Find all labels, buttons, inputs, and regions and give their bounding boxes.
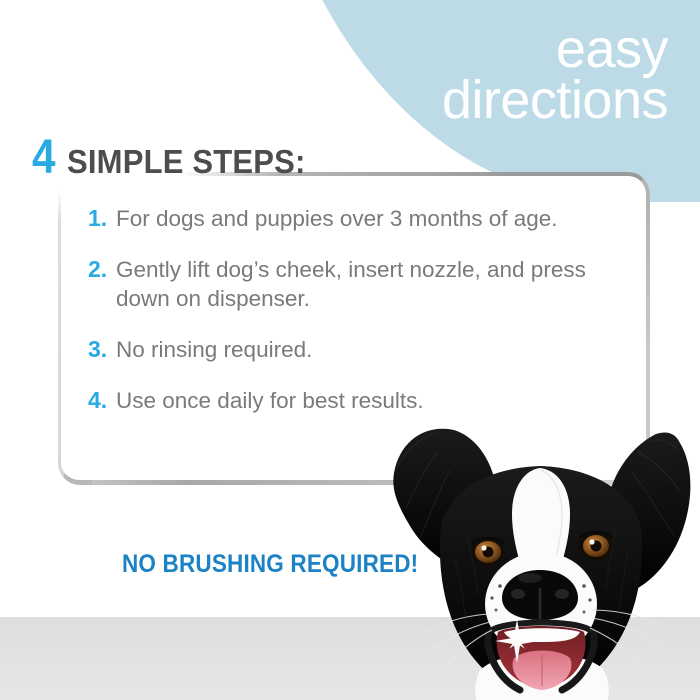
panel-corner-bottom-left [58, 451, 92, 485]
steps-list: 1. For dogs and puppies over 3 months of… [88, 204, 633, 415]
panel-border-left [58, 190, 61, 458]
step-number: 4. [88, 386, 116, 415]
step-number: 1. [88, 204, 116, 233]
dog-photo [380, 418, 700, 700]
step-text: Gently lift dog’s cheek, insert nozzle, … [116, 255, 633, 313]
directions-panel-graphic: easy directions 4 SIMPLE STEPS: 1. For d… [0, 0, 700, 700]
title-line-directions: directions [442, 75, 668, 126]
step-text: For dogs and puppies over 3 months of ag… [116, 204, 558, 233]
list-item: 1. For dogs and puppies over 3 months of… [88, 204, 633, 233]
page-title: easy directions [442, 24, 668, 127]
title-line-easy: easy [442, 24, 668, 75]
steps-count: 4 [32, 134, 55, 182]
step-number: 2. [88, 255, 116, 284]
step-text: No rinsing required. [116, 335, 312, 364]
step-text: Use once daily for best results. [116, 386, 424, 415]
list-item: 4. Use once daily for best results. [88, 386, 633, 415]
steps-heading: 4 SIMPLE STEPS: [32, 134, 321, 182]
list-item: 2. Gently lift dog’s cheek, insert nozzl… [88, 255, 633, 313]
tagline: NO BRUSHING REQUIRED! [122, 550, 418, 579]
list-item: 3. No rinsing required. [88, 335, 633, 364]
step-number: 3. [88, 335, 116, 364]
steps-heading-label: SIMPLE STEPS: [67, 145, 306, 178]
